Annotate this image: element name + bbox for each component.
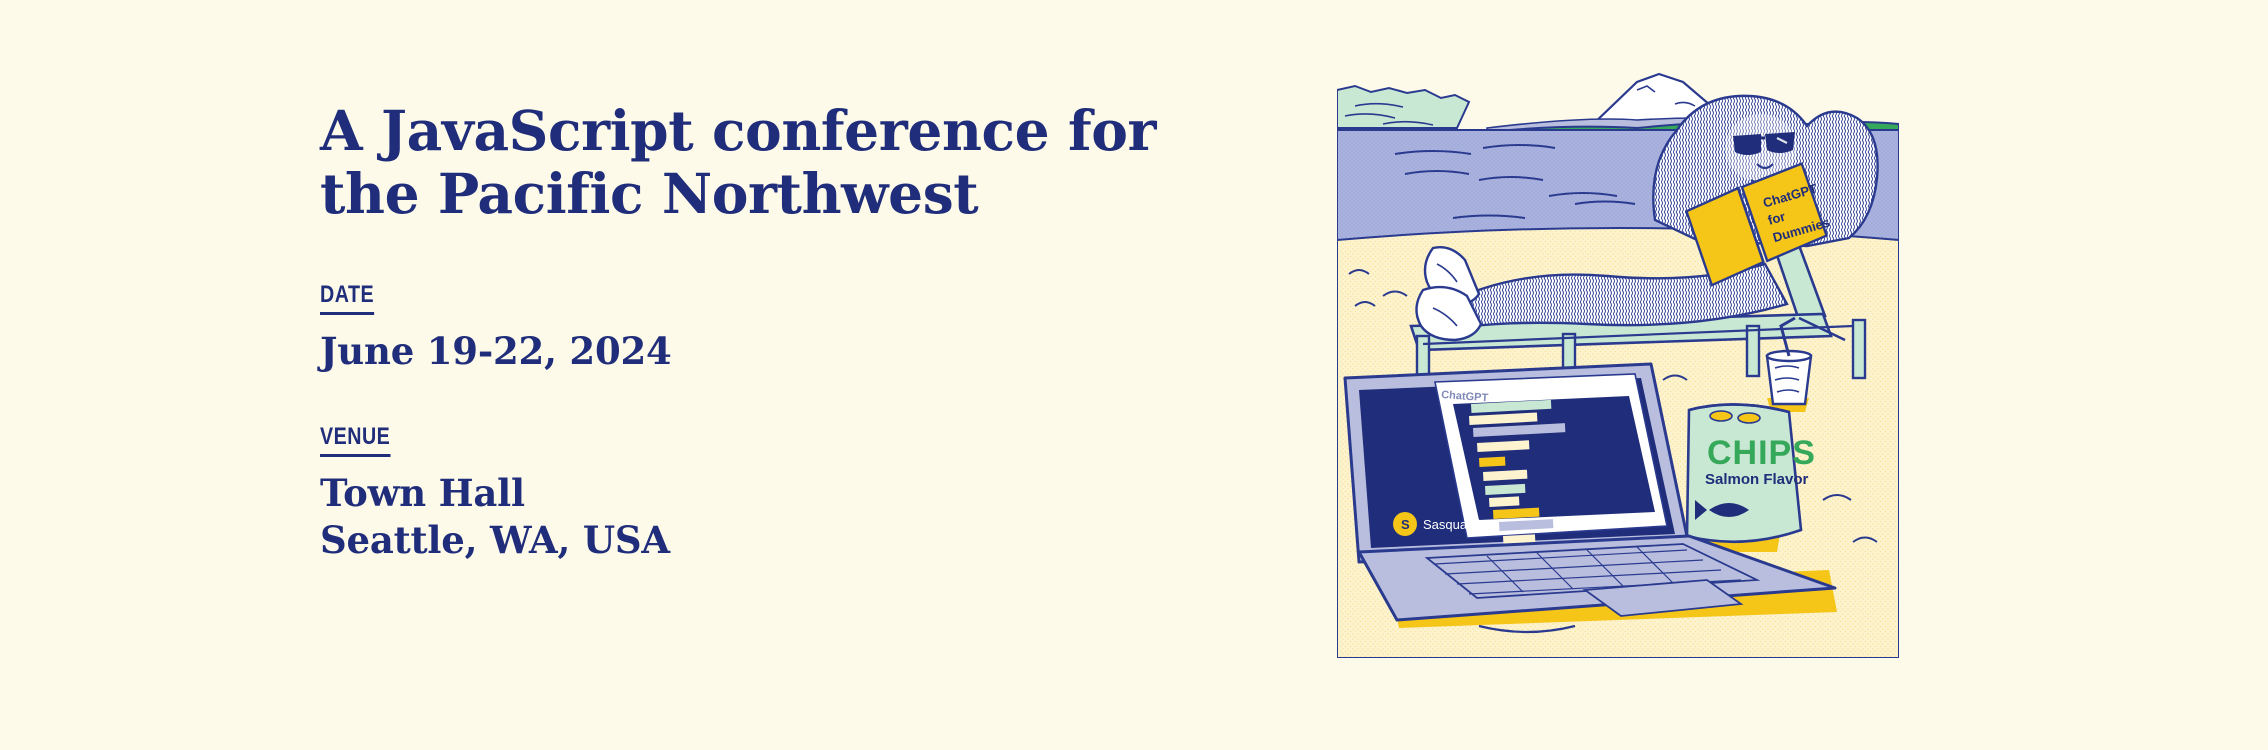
- page-title: A JavaScript conference for the Pacific …: [320, 100, 1200, 225]
- chair-leg-back-left: [1747, 326, 1759, 376]
- chair-leg-back-right: [1853, 320, 1865, 378]
- illustration-canvas: ChatGPT for Dummies: [1337, 68, 1899, 658]
- cup-body: [1767, 356, 1811, 404]
- chip-piece-2: [1738, 413, 1760, 423]
- hero-illustration: ChatGPT for Dummies: [1337, 68, 1899, 658]
- hero-text-column: A JavaScript conference for the Pacific …: [320, 100, 1240, 563]
- chip-piece-1: [1710, 411, 1732, 421]
- detail-value-venue-location: Seattle, WA, USA: [320, 518, 1240, 563]
- detail-block-date: DATE June 19-22, 2024: [320, 281, 1240, 374]
- laptop-brand-label: Sasquatch: [1423, 517, 1484, 532]
- svg-text:S: S: [1401, 517, 1410, 532]
- detail-label-venue: VENUE: [320, 423, 390, 457]
- chips-bag-title: CHIPS: [1707, 434, 1816, 472]
- detail-label-date: DATE: [320, 281, 374, 315]
- chips-bag-flavor: Salmon Flavor: [1705, 471, 1809, 488]
- detail-value-venue-name: Town Hall: [320, 471, 1240, 516]
- hero-section: A JavaScript conference for the Pacific …: [0, 0, 2268, 750]
- detail-value-date: June 19-22, 2024: [320, 329, 1240, 374]
- detail-block-venue: VENUE Town Hall Seattle, WA, USA: [320, 423, 1240, 563]
